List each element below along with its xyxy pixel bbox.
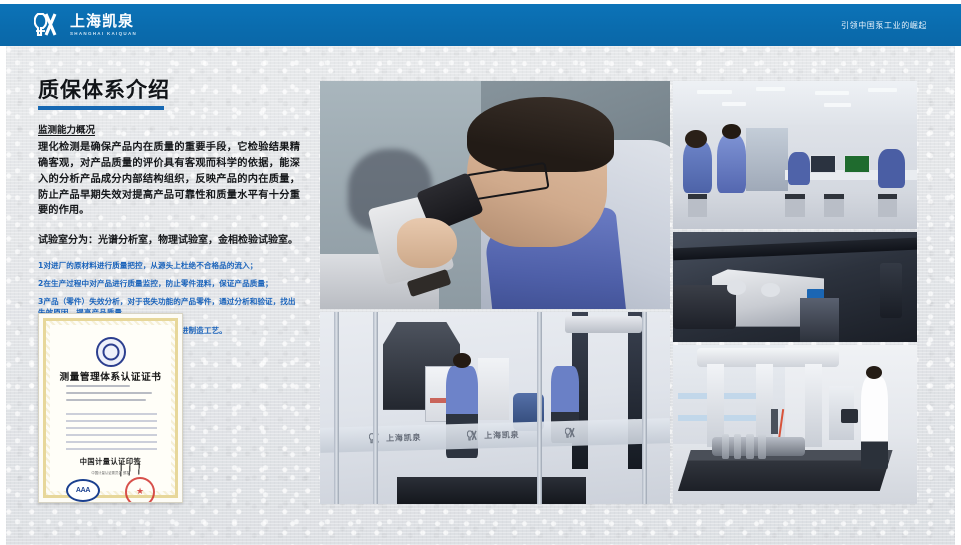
photo-material-testing[interactable]: 上海凯泉 上海凯泉 <box>320 312 670 504</box>
title-underline-rule <box>38 106 164 110</box>
photo-brand-overlay <box>565 428 578 440</box>
list-item: 2在生产过程中对产品进行质量监控，防止零件混料，保证产品质量； <box>38 278 300 289</box>
kaiquan-logo-icon <box>467 430 480 442</box>
certificate-title: 测量管理体系认证证书 <box>50 369 171 383</box>
certificate-red-seal-icon <box>125 477 155 503</box>
certificate-footer-subtext: 中国计量认证委员会 颁发 <box>50 470 171 475</box>
top-header-bar: 上海凯泉 SHANGHAI KAIQUAN 引领中国泵工业的崛起 <box>0 4 961 46</box>
intro-paragraph: 理化检测是确保产品内在质量的重要手段，它检验结果精确客观，对产品质量的评价具有客… <box>38 140 300 219</box>
certification-emblem-icon <box>96 337 126 367</box>
photo-cmm-measurement[interactable] <box>673 345 917 504</box>
brand-logo[interactable]: 上海凯泉 SHANGHAI KAIQUAN <box>34 11 137 39</box>
left-content-column: 质保体系介绍 监测能力概况 理化检测是确保产品内在质量的重要手段，它检验结果精确… <box>38 78 300 343</box>
section-subheading: 监测能力概况 <box>38 122 300 136</box>
list-item: 1对进厂的原材料进行质量把控，从源头上杜绝不合格品的流入； <box>38 260 300 271</box>
photo-brand-overlay: 上海凯泉 <box>467 429 520 442</box>
photo-microscope-instrument[interactable] <box>673 232 917 342</box>
kaiquan-logo-icon <box>34 11 64 39</box>
photo-brand-overlay-text: 上海凯泉 <box>386 432 421 444</box>
photo-brand-overlay-text: 上海凯泉 <box>484 430 519 442</box>
certificate-footer-text: 中国计量认证印签 <box>80 457 142 466</box>
certificate-inner: 测量管理体系认证证书 AAA 中国计量认证印签 中国计量认证委员会 颁发 <box>50 325 171 491</box>
page-title: 质保体系介绍 <box>38 78 300 102</box>
aaa-rating-badge: AAA <box>66 479 100 502</box>
brand-logo-text: 上海凯泉 SHANGHAI KAIQUAN <box>70 14 137 37</box>
certificate-body-text <box>66 413 157 455</box>
measurement-management-certificate[interactable]: 测量管理体系认证证书 AAA 中国计量认证印签 中国计量认证委员会 颁发 <box>38 313 183 503</box>
certificate-field-lines <box>66 385 157 406</box>
brand-name-cn: 上海凯泉 <box>70 14 137 29</box>
photo-collage: 上海凯泉 上海凯泉 <box>320 81 917 504</box>
kaiquan-logo-icon <box>565 428 578 440</box>
slide-root: 上海凯泉 SHANGHAI KAIQUAN 引领中国泵工业的崛起 质保体系介绍 … <box>0 0 961 545</box>
header-tagline: 引领中国泵工业的崛起 <box>841 4 927 46</box>
labs-line: 试验室分为：光谱分析室，物理试验室，金相检验试验室。 <box>38 233 300 248</box>
photo-microscope-inspection[interactable] <box>320 81 670 309</box>
brand-name-en: SHANGHAI KAIQUAN <box>70 32 137 37</box>
certificate-footer: 中国计量认证印签 中国计量认证委员会 颁发 <box>50 457 171 475</box>
photo-laboratory-room[interactable] <box>673 81 917 229</box>
